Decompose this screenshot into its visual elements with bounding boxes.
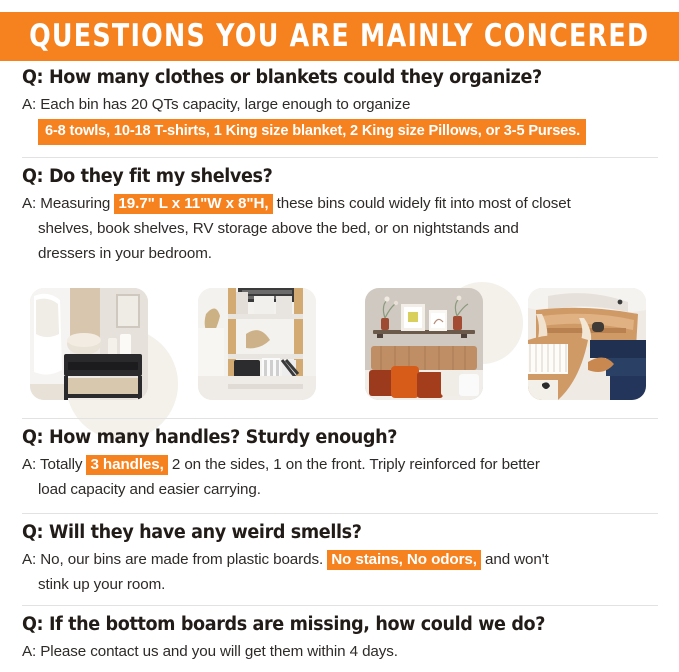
photo-shelving-unit-art [198,288,316,400]
divider-4 [22,605,658,606]
faq-infographic: QUESTIONS YOU ARE MAINLY CONCERED Q: How… [0,0,679,672]
photo-headboard-shelf [365,288,483,400]
faq-highlight-1: 6-8 towls, 10-18 T-shirts, 1 King size b… [38,119,586,145]
faq-answer-5-pre: A: Please contact us and you will get th… [22,643,398,660]
page-title: QUESTIONS YOU ARE MAINLY CONCERED [29,21,649,52]
divider-2 [22,418,658,419]
photo-shelving-unit [198,288,316,400]
faq-answer-2-pre: A: Measuring [22,195,110,212]
faq-answer-3-line2: load capacity and easier carrying. [22,477,662,502]
faq-question-5: Q: If the bottom boards are missing, how… [22,614,630,635]
faq-item-4: Q: Will they have any weird smells? A: N… [22,522,662,597]
faq-answer-4: A: No, our bins are made from plastic bo… [22,547,662,597]
faq-highlight-2: 19.7" L x 11"W x 8"H, [114,194,272,214]
faq-answer-2: A: Measuring 19.7" L x 11"W x 8"H, these… [22,191,662,266]
faq-answer-2-line3: dressers in your bedroom. [22,241,662,266]
divider-1 [22,157,658,158]
faq-answer-2-post: these bins could widely fit into most of… [273,195,571,212]
faq-item-1: Q: How many clothes or blankets could th… [22,67,662,145]
faq-question-4: Q: Will they have any weird smells? [22,522,630,543]
faq-answer-1-text: A: Each bin has 20 QTs capacity, large e… [22,96,410,113]
faq-answer-3-pre: A: Totally [22,456,82,473]
photo-gallery [0,288,679,408]
faq-item-2: Q: Do they fit my shelves? A: Measuring … [22,166,662,266]
faq-answer-4-line2: stink up your room. [22,572,662,597]
faq-answer-4-post: and won't [481,551,549,568]
divider-3 [22,513,658,514]
header-banner: QUESTIONS YOU ARE MAINLY CONCERED [0,12,679,61]
faq-answer-3: A: Totally 3 handles, 2 on the sides, 1 … [22,452,662,502]
photo-bedroom-nightstand [30,288,148,400]
faq-highlight-3: 3 handles, [86,455,167,475]
faq-answer-3-post: 2 on the sides, 1 on the front. Triply r… [168,456,540,473]
faq-item-5: Q: If the bottom boards are missing, how… [22,614,662,664]
faq-answer-5: A: Please contact us and you will get th… [22,639,662,664]
faq-question-1: Q: How many clothes or blankets could th… [22,67,630,88]
faq-highlight-4: No stains, No odors, [327,550,481,570]
faq-answer-2-line2: shelves, book shelves, RV storage above … [22,216,662,241]
photo-headboard-shelf-art [365,288,483,400]
faq-question-3: Q: How many handles? Sturdy enough? [22,427,630,448]
photo-rv-storage [528,288,646,400]
faq-answer-1: A: Each bin has 20 QTs capacity, large e… [22,92,662,117]
faq-content: Q: How many clothes or blankets could th… [0,61,679,672]
photo-rv-storage-art [528,288,646,400]
faq-answer-4-pre: A: No, our bins are made from plastic bo… [22,551,323,568]
photo-bedroom-nightstand-art [30,288,148,400]
faq-item-3: Q: How many handles? Sturdy enough? A: T… [22,427,662,502]
faq-question-2: Q: Do they fit my shelves? [22,166,630,187]
